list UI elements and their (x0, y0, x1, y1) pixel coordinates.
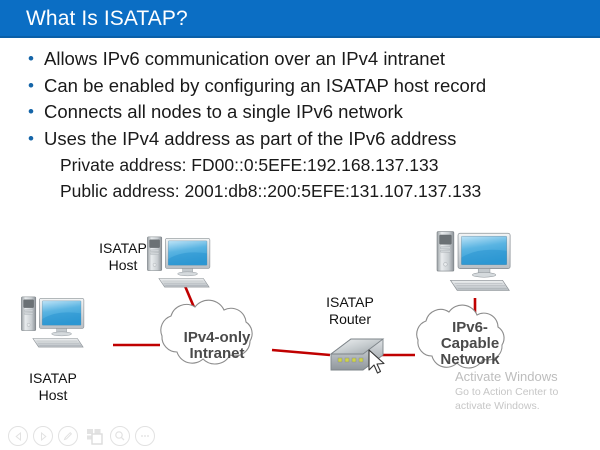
pen-annotation-button[interactable] (58, 426, 78, 446)
previous-icon (14, 432, 23, 441)
bullet-dot-icon: • (28, 99, 34, 126)
bullet-item: • Uses the IPv4 address as part of the I… (26, 126, 586, 153)
computer-ipv6-host (437, 232, 510, 291)
sub-text-public-address: Public address: 2001:db8::200:5EFE:131.1… (26, 178, 586, 204)
label-isatap-host-top-line1: ISATAP (88, 240, 158, 256)
bullet-text: Uses the IPv4 address as part of the IPv… (44, 128, 456, 149)
thumbnails-grid-icon (86, 428, 103, 445)
ellipsis-icon (139, 430, 151, 442)
more-options-button[interactable] (135, 426, 155, 446)
zoom-magnifier-button[interactable] (110, 426, 130, 446)
previous-slide-button[interactable] (8, 426, 28, 446)
label-isatap-host-bottom-line2: Host (18, 387, 88, 403)
activate-windows-watermark: Activate Windows Go to Action Center to … (455, 368, 600, 413)
play-next-slide-button[interactable] (33, 426, 53, 446)
bullet-dot-icon: • (28, 73, 34, 100)
bullet-dot-icon: • (28, 46, 34, 73)
pen-icon (62, 430, 74, 442)
cloud-label-ipv6-line3: Network (415, 352, 525, 369)
bullet-text: Connects all nodes to a single IPv6 netw… (44, 101, 403, 122)
watermark-title: Activate Windows (455, 368, 600, 385)
magnifier-icon (114, 430, 126, 442)
slide-header-bar: What Is ISATAP? (0, 0, 600, 38)
cloud-label-ipv4-line2: Intranet (158, 346, 276, 363)
bullet-list: • Allows IPv6 communication over an IPv4… (26, 46, 586, 204)
slideshow-toolbar (0, 422, 600, 450)
sub-text-private-address: Private address: FD00::0:5EFE:192.168.13… (26, 152, 586, 178)
bullet-item: • Can be enabled by configuring an ISATA… (26, 73, 586, 100)
link-ipv4-to-router (272, 350, 330, 355)
label-isatap-router-line1: ISATAP (315, 294, 385, 310)
presentation-slide: What Is ISATAP? • Allows IPv6 communicat… (0, 0, 600, 450)
page-title: What Is ISATAP? (26, 6, 188, 32)
bullet-text: Allows IPv6 communication over an IPv4 i… (44, 48, 445, 69)
bullet-item: • Connects all nodes to a single IPv6 ne… (26, 99, 586, 126)
bullet-text: Can be enabled by configuring an ISATAP … (44, 75, 486, 96)
watermark-subtitle: Go to Action Center to activate Windows. (455, 385, 595, 413)
bullet-dot-icon: • (28, 126, 34, 153)
bullet-item: • Allows IPv6 communication over an IPv4… (26, 46, 586, 73)
slide-thumbnails-button[interactable] (84, 426, 104, 446)
label-isatap-router-line2: Router (315, 311, 385, 327)
label-isatap-host-bottom-line1: ISATAP (18, 370, 88, 386)
label-isatap-host-top-line2: Host (88, 257, 158, 273)
computer-isatap-host-bottom (21, 297, 83, 347)
play-icon (39, 432, 48, 441)
